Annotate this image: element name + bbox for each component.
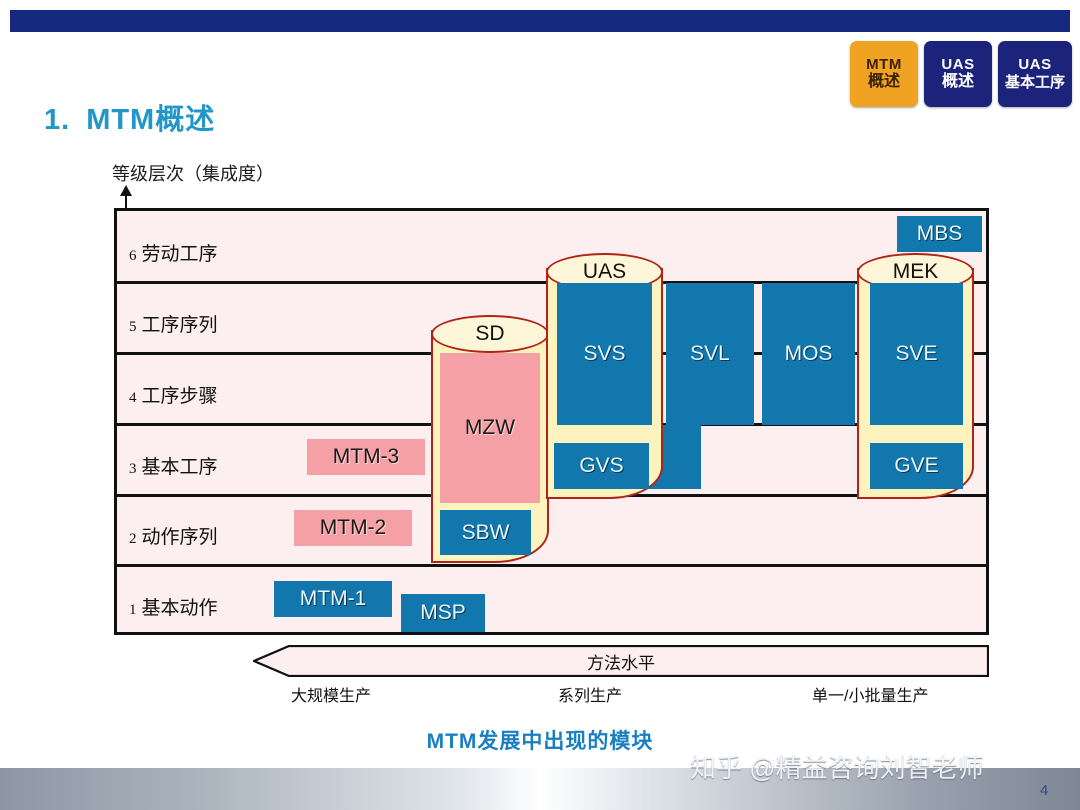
module-block-sbw[interactable]: SBW bbox=[440, 510, 531, 555]
module-block-svl[interactable]: SVL bbox=[666, 283, 754, 425]
row-divider-2-1 bbox=[117, 564, 986, 567]
tab-line2: 概述 bbox=[868, 73, 900, 92]
tab-line1: UAS bbox=[1018, 56, 1051, 74]
module-block-sve[interactable]: SVE bbox=[870, 283, 963, 425]
module-block-mtm-3[interactable]: MTM-3 bbox=[307, 439, 425, 475]
scale-label-small-batch-production: 单一/小批量生产 bbox=[812, 682, 928, 706]
method-level-arrow: 方法水平 bbox=[253, 645, 989, 677]
tab-mtm-overview[interactable]: MTM 概述 bbox=[850, 41, 918, 107]
row-text-5: 工序序列 bbox=[142, 315, 218, 336]
scale-label-mass-production: 大规模生产 bbox=[291, 682, 371, 706]
row-text-3: 基本工序 bbox=[142, 457, 218, 478]
tab-line2: 概述 bbox=[942, 73, 974, 92]
module-block-gvs[interactable]: GVS bbox=[554, 443, 649, 489]
row-index-4: 4 bbox=[129, 390, 137, 406]
module-block-mos[interactable]: MOS bbox=[762, 283, 855, 425]
cylinder-sd-cap: SD bbox=[431, 315, 549, 353]
module-block-gve[interactable]: GVE bbox=[870, 443, 963, 489]
module-block-mtm-2[interactable]: MTM-2 bbox=[294, 510, 412, 546]
page-title-number: 1. bbox=[44, 104, 70, 136]
row-text-6: 劳动工序 bbox=[142, 244, 218, 265]
module-block-svs[interactable]: SVS bbox=[557, 283, 652, 425]
level-matrix: 6劳动工序 5工序序列 4工序步骤 3基本工序 2动作序列 1基本动作 MBS … bbox=[114, 208, 989, 635]
module-block-mbs[interactable]: MBS bbox=[897, 216, 982, 252]
row-index-3: 3 bbox=[129, 461, 137, 477]
row-label-3: 3基本工序 bbox=[129, 452, 218, 479]
watermark-text: 知乎 @精益咨询刘智老师 bbox=[690, 748, 984, 785]
row-label-5: 5工序序列 bbox=[129, 310, 218, 337]
row-label-4: 4工序步骤 bbox=[129, 381, 218, 408]
row-label-1: 1基本动作 bbox=[129, 593, 218, 620]
tab-line1: UAS bbox=[941, 56, 974, 74]
row-label-2: 2动作序列 bbox=[129, 522, 218, 549]
tab-line2: 基本工序 bbox=[1005, 74, 1065, 92]
row-index-2: 2 bbox=[129, 531, 137, 547]
module-block-msp[interactable]: MSP bbox=[401, 594, 485, 632]
row-text-2: 动作序列 bbox=[142, 527, 218, 548]
row-index-1: 1 bbox=[129, 602, 137, 618]
row-index-6: 6 bbox=[129, 248, 137, 264]
row-index-5: 5 bbox=[129, 319, 137, 335]
tab-uas-overview[interactable]: UAS 概述 bbox=[924, 41, 992, 107]
nav-tabs: MTM 概述 UAS 概述 UAS 基本工序 bbox=[850, 41, 1072, 107]
module-block-mzw[interactable]: MZW bbox=[440, 353, 540, 503]
tab-line1: MTM bbox=[866, 56, 902, 74]
scale-label-series-production: 系列生产 bbox=[558, 682, 622, 706]
y-axis-label: 等级层次（集成度） bbox=[112, 160, 274, 186]
module-block-mtm-1[interactable]: MTM-1 bbox=[274, 581, 392, 617]
page-number: 4 bbox=[1040, 782, 1048, 799]
header-bar bbox=[10, 10, 1070, 32]
row-text-4: 工序步骤 bbox=[142, 386, 218, 407]
tab-uas-basic-process[interactable]: UAS 基本工序 bbox=[998, 41, 1072, 107]
method-level-label: 方法水平 bbox=[253, 645, 989, 677]
row-label-6: 6劳动工序 bbox=[129, 239, 218, 266]
page-title: 1.MTM概述 bbox=[44, 96, 215, 138]
row-text-1: 基本动作 bbox=[142, 598, 218, 619]
page-title-text: MTM概述 bbox=[86, 104, 215, 136]
